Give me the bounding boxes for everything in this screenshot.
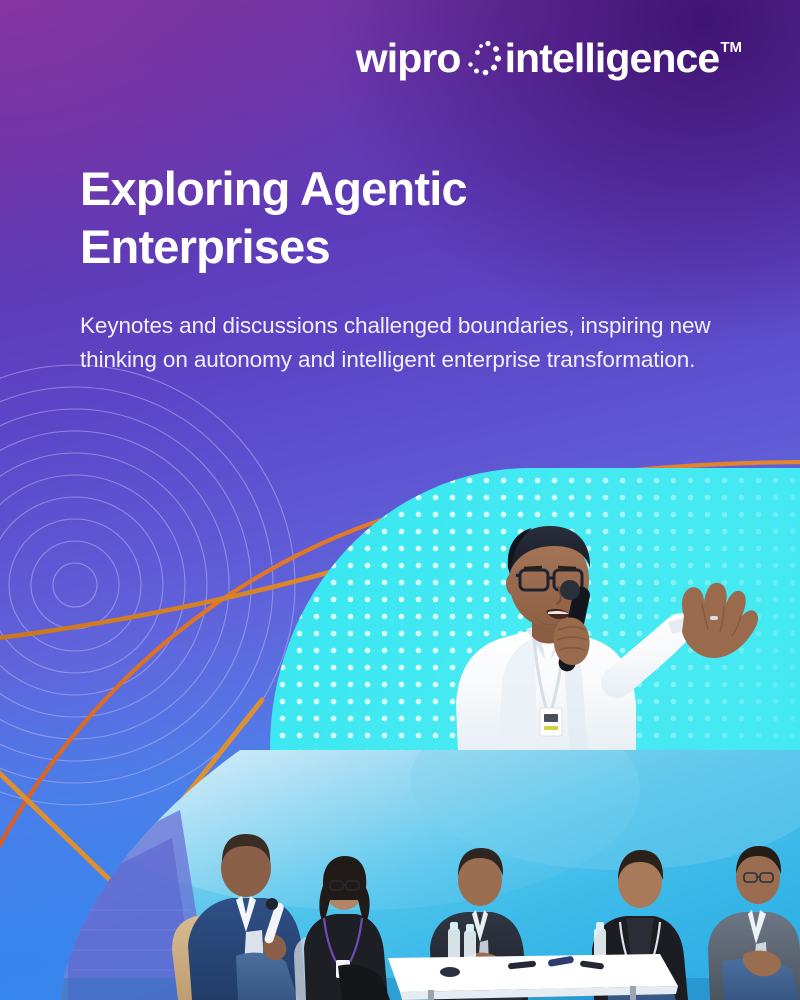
keynote-speaker-photo — [270, 468, 800, 753]
stage-table — [388, 954, 678, 1000]
logo-word-wipro: wipro — [356, 38, 461, 79]
page-subtitle: Keynotes and discussions challenged boun… — [80, 309, 720, 377]
page-title: Exploring Agentic Enterprises — [80, 160, 510, 277]
panel-scene-illustration — [60, 750, 800, 1000]
trademark-symbol: TM — [720, 40, 742, 55]
speaker-figure-illustration — [270, 468, 800, 753]
raised-hand — [682, 583, 758, 658]
wipro-dots-mark-icon — [464, 37, 504, 81]
hero-text-block: Exploring Agentic Enterprises Keynotes a… — [80, 160, 740, 377]
brand-logo: wipro intelligence TM — [356, 38, 742, 82]
logo-word-intelligence: intelligence — [505, 38, 720, 79]
panel-discussion-photo — [60, 750, 800, 1000]
panel-photo-clip — [60, 750, 800, 1000]
poster-canvas: wipro intelligence TM Exploring Agent — [0, 0, 800, 1000]
